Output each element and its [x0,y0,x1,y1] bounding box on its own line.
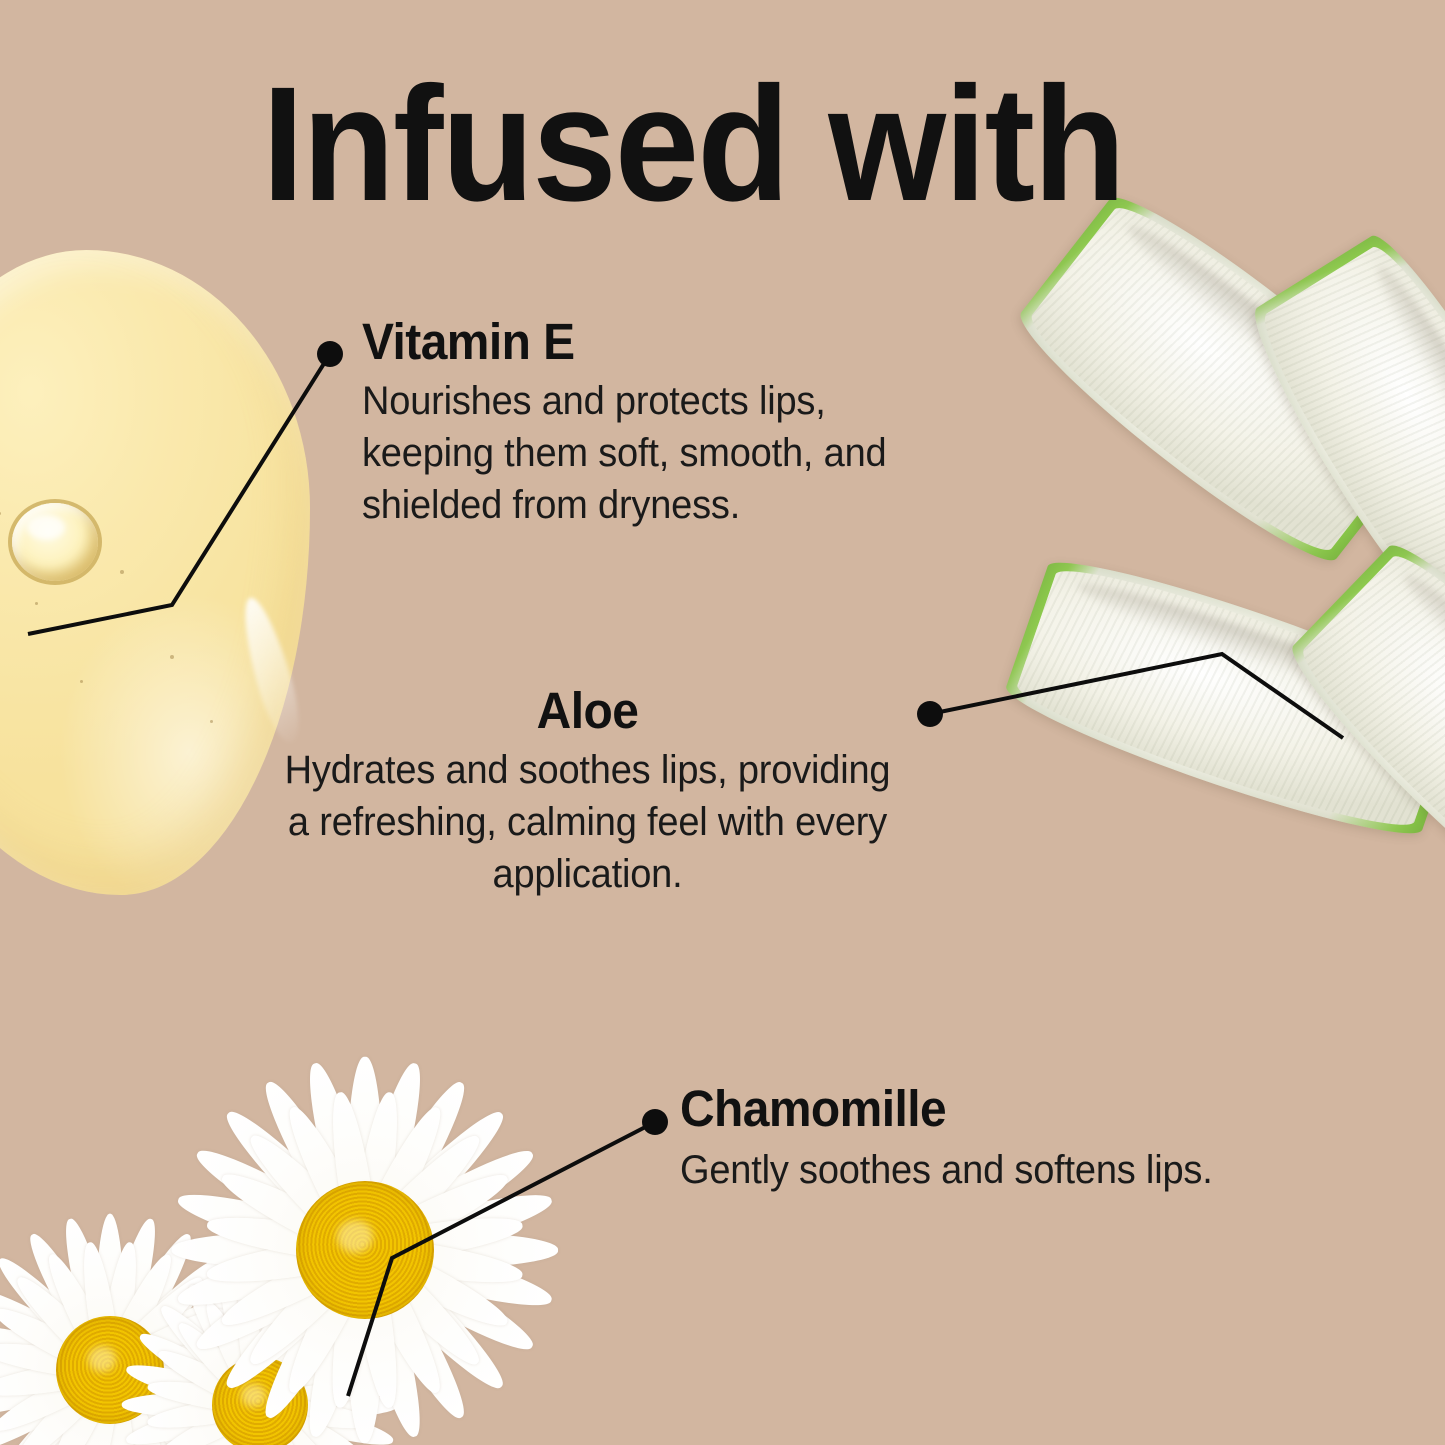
ingredient-block-chamomille: Chamomille Gently soothes and softens li… [680,1082,1320,1196]
leader-line-aloe [930,654,1343,738]
ingredient-block-aloe: Aloe Hydrates and soothes lips, providin… [255,684,920,900]
ingredient-description-chamomille: Gently soothes and softens lips. [680,1144,1288,1196]
ingredient-name-aloe: Aloe [275,684,900,738]
infused-with-poster: Infused with Vitamin E Nourishes and pro… [0,0,1445,1445]
page-title: Infused with [262,62,1124,225]
leader-dot-vitamin-e [317,341,343,367]
ingredient-block-vitamin-e: Vitamin E Nourishes and protects lips, k… [362,315,982,531]
ingredient-description-aloe: Hydrates and soothes lips, providing a r… [272,744,904,900]
ingredient-name-vitamin-e: Vitamin E [362,315,945,369]
leader-dot-aloe [917,701,943,727]
ingredient-description-vitamin-e: Nourishes and protects lips, keeping the… [362,375,951,531]
leader-dot-chamomille [642,1109,668,1135]
leader-line-vitamin-e [28,354,330,634]
ingredient-name-chamomille: Chamomille [680,1082,1282,1136]
leader-line-chamomille [348,1122,655,1396]
